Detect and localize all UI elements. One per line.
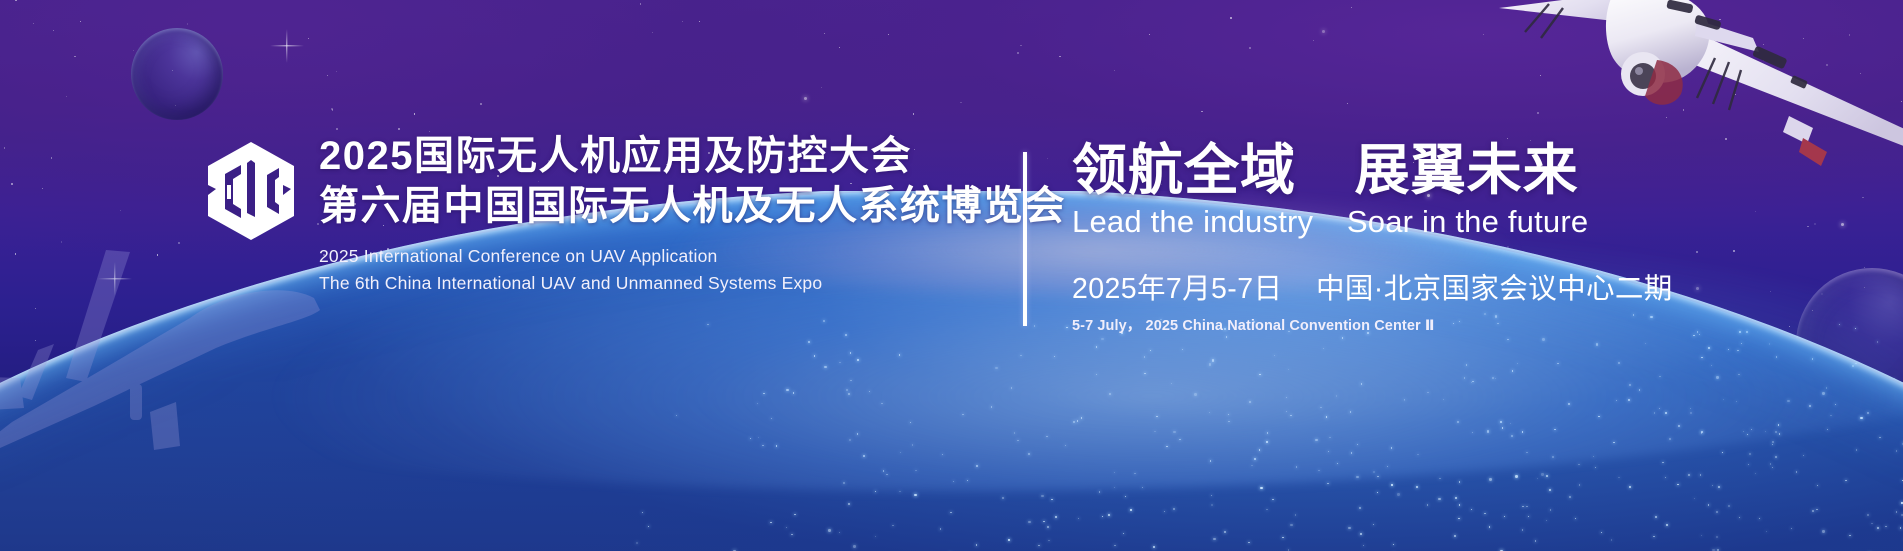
slogan-en-part1: Lead the industry bbox=[1072, 204, 1313, 239]
date-venue-cn: 2025年7月5-7日 中国·北京国家会议中心二期 bbox=[1072, 266, 1673, 307]
slogan-cn-part2: 展翼未来 bbox=[1355, 139, 1579, 201]
conference-identity-block: 2025国际无人机应用及防控大会 第六届中国国际无人机及无人系统博览会 2025… bbox=[205, 132, 1066, 296]
conference-title-en-line1: 2025 International Conference on UAV App… bbox=[319, 243, 1066, 270]
slogan-en: Lead the industry Soar in the future bbox=[1072, 205, 1673, 240]
slogan-en-part2: Soar in the future bbox=[1347, 204, 1588, 239]
conference-banner: 2025国际无人机应用及防控大会 第六届中国国际无人机及无人系统博览会 2025… bbox=[0, 0, 1903, 551]
venue-cn: 中国·北京国家会议中心二期 bbox=[1316, 273, 1673, 305]
conference-title-column: 2025国际无人机应用及防控大会 第六届中国国际无人机及无人系统博览会 2025… bbox=[319, 132, 1066, 296]
conference-title-en-line2: The 6th China International UAV and Unma… bbox=[319, 270, 1066, 297]
conference-title-cn-line1: 2025国际无人机应用及防控大会 bbox=[319, 132, 1066, 182]
conference-title-cn-line2: 第六届中国国际无人机及无人系统博览会 bbox=[319, 182, 1066, 232]
slogan-cn: 领航全域 展翼未来 bbox=[1072, 140, 1673, 201]
slogan-cn-part1: 领航全域 bbox=[1072, 139, 1296, 201]
date-cn: 2025年7月5-7日 bbox=[1072, 273, 1282, 305]
banner-content: 2025国际无人机应用及防控大会 第六届中国国际无人机及无人系统博览会 2025… bbox=[0, 0, 1903, 551]
conference-title-en-block: 2025 International Conference on UAV App… bbox=[319, 243, 1066, 296]
uuc-hexagon-logo-icon[interactable] bbox=[205, 141, 297, 241]
vertical-divider bbox=[1023, 152, 1027, 326]
slogan-block: 领航全域 展翼未来 Lead the industry Soar in the … bbox=[1072, 140, 1673, 335]
date-venue-en: 5-7 July， 2025 China National Convention… bbox=[1072, 314, 1673, 335]
